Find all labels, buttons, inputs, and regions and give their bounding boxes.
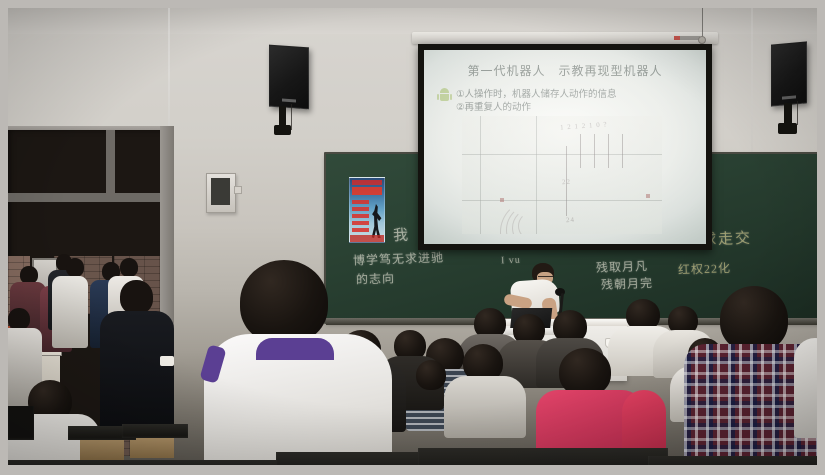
wooden-bench bbox=[80, 438, 124, 460]
wooden-bench bbox=[130, 436, 174, 458]
audience-head bbox=[720, 286, 788, 352]
brand-logo bbox=[674, 36, 700, 40]
poster-row bbox=[352, 207, 369, 211]
audience-head bbox=[240, 260, 328, 344]
poster-figure-silhouette bbox=[371, 204, 382, 238]
audience-body bbox=[794, 338, 817, 438]
slide-title: 第一代机器人 示教再现型机器人 bbox=[424, 62, 706, 79]
wall-poster bbox=[349, 177, 385, 243]
speaker-logo bbox=[282, 99, 296, 103]
poster-row bbox=[352, 200, 369, 204]
wall-speaker-left bbox=[269, 45, 309, 110]
poster-top-banner bbox=[352, 180, 382, 185]
pull-cord-knob[interactable] bbox=[698, 36, 706, 44]
poster-bottom-band bbox=[350, 235, 384, 242]
control-panel-face bbox=[211, 178, 230, 205]
wall-control-panel[interactable] bbox=[206, 173, 236, 213]
android-droid-icon bbox=[438, 88, 451, 101]
audience-body bbox=[444, 376, 526, 438]
slide-bullet-2: ②再重复人的动作 bbox=[456, 101, 617, 114]
pull-cord[interactable] bbox=[702, 8, 703, 38]
photograph: 我 博学笃无求进驰 的志向 I vu 残取月凡 残朝月完 红权22化 全球走交 … bbox=[0, 0, 825, 475]
speaker-cable bbox=[797, 101, 798, 125]
door-post bbox=[106, 130, 115, 196]
speaker-bracket-right bbox=[778, 123, 797, 134]
figure-scrawl: 22 bbox=[562, 178, 572, 187]
poster-headline bbox=[352, 187, 382, 195]
poster-row bbox=[352, 228, 369, 232]
audience-head bbox=[559, 348, 611, 396]
slide-bullet-1: ①人操作时，机器人储存人动作的信息 bbox=[456, 88, 617, 101]
bench-top bbox=[122, 424, 188, 438]
control-panel-tab bbox=[234, 186, 242, 194]
speaker-bracket-left bbox=[274, 125, 291, 135]
figure-scrawl: 24 bbox=[566, 216, 576, 225]
uniform-collar bbox=[256, 338, 334, 360]
desk-row bbox=[418, 448, 668, 465]
classroom-scene: 我 博学笃无求进驰 的志向 I vu 残取月凡 残朝月完 红权22化 全球走交 … bbox=[8, 8, 817, 465]
sleeve-cuff bbox=[160, 356, 174, 366]
photo-inner-frame: 我 博学笃无求进驰 的志向 I vu 残取月凡 残朝月完 红权22化 全球走交 … bbox=[8, 8, 817, 465]
door-mullion bbox=[8, 193, 164, 202]
poster-row bbox=[352, 221, 369, 225]
wall-speaker-right bbox=[771, 41, 807, 106]
speaker-logo bbox=[782, 95, 796, 99]
desk-side bbox=[8, 406, 34, 440]
slide-bullets: ①人操作时，机器人储存人动作的信息 ②再重复人的动作 bbox=[456, 88, 617, 114]
projector-screen-casing bbox=[412, 32, 718, 44]
audience-head bbox=[416, 360, 446, 390]
projection-screen: 第一代机器人 示教再现型机器人 ①人操作时，机器人储存人动作的信息 ②再重复人的… bbox=[424, 50, 706, 244]
speaker-cable bbox=[291, 104, 292, 130]
desk-row bbox=[276, 452, 436, 465]
figure-scrawl: 1 2 1 2 1 0 ? bbox=[560, 120, 608, 131]
desk-row bbox=[648, 456, 817, 465]
poster-row bbox=[352, 214, 369, 218]
ceiling bbox=[8, 8, 817, 34]
slide-figure-scan: 1 2 1 2 1 0 ? 22 24 bbox=[462, 116, 662, 234]
